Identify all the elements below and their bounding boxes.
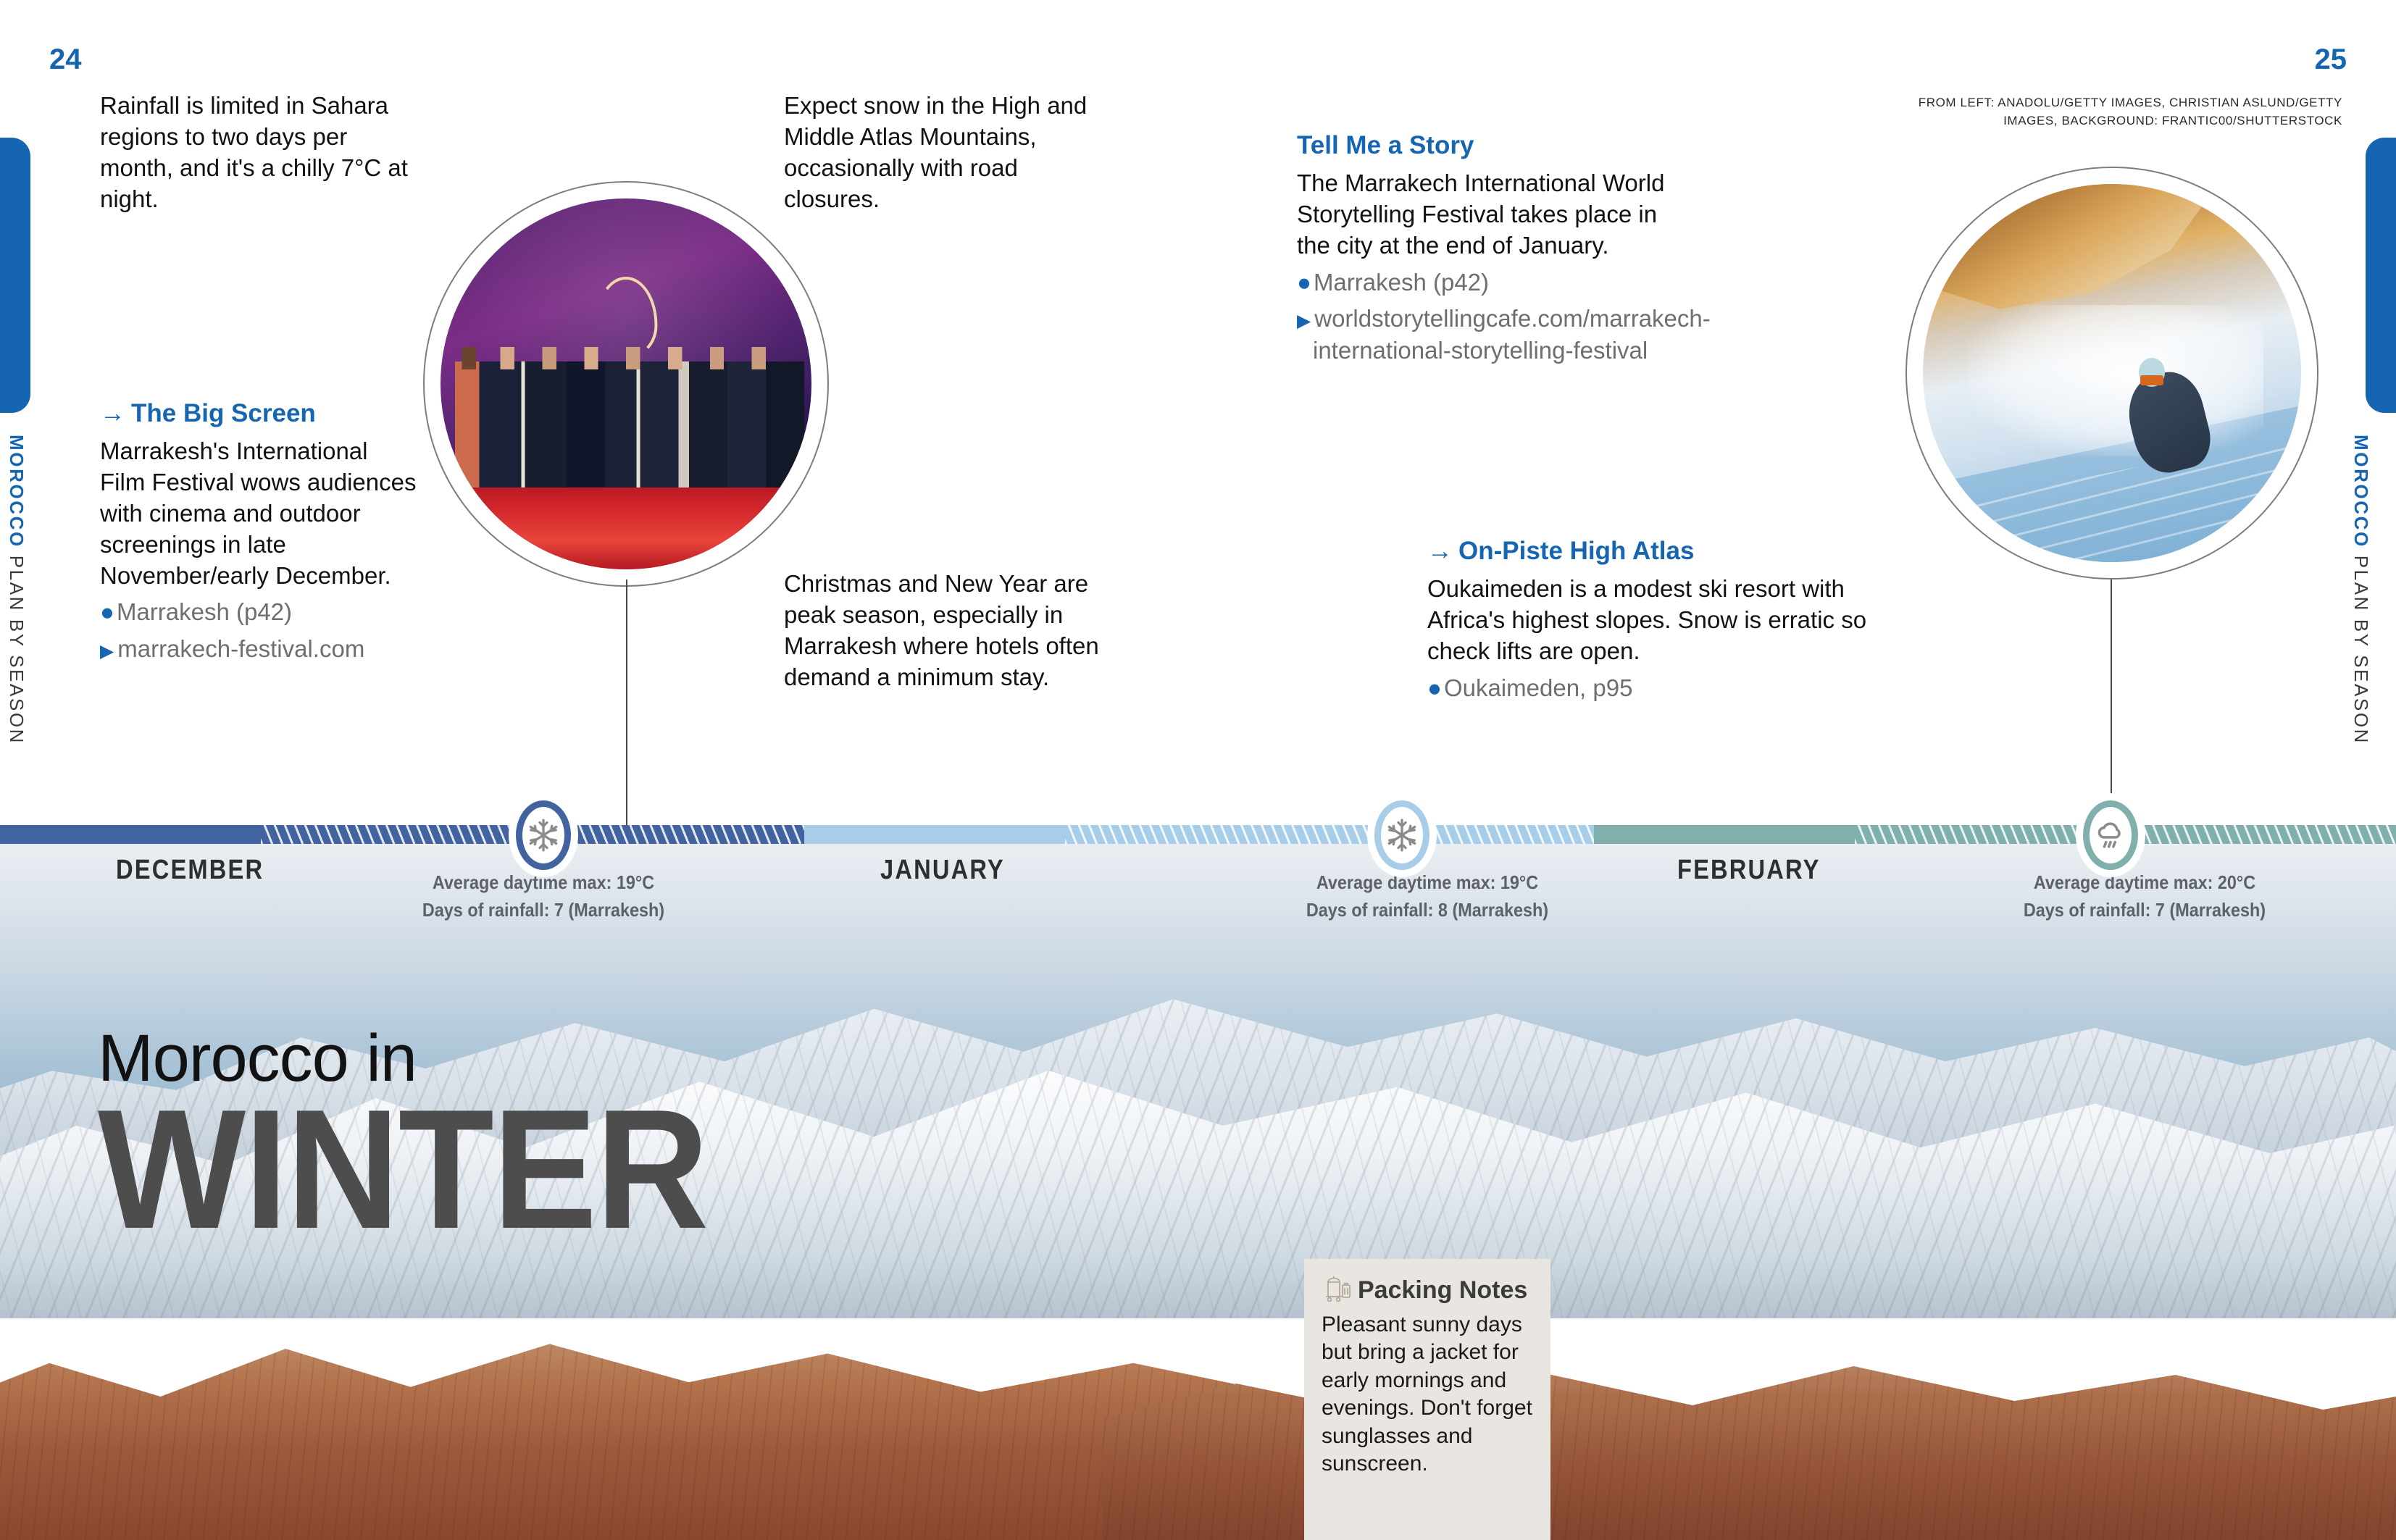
note-snow: Expect snow in the High and Middle Atlas… <box>784 91 1095 215</box>
stats-january: Average daytime max: 19°C Days of rainfa… <box>1258 869 1597 924</box>
page-number-right: 25 <box>2315 43 2347 76</box>
note-rainfall: Rainfall is limited in Sahara regions to… <box>100 91 417 215</box>
avg-max-december: Average daytime max: 19°C <box>374 869 713 897</box>
hatch-overlay <box>1065 825 1594 844</box>
feature-title-the-big-screen: →The Big Screen <box>100 398 419 429</box>
side-label-brand: MOROCCO <box>2350 435 2372 548</box>
feature-title-on-piste-high-atlas: →On-Piste High Atlas <box>1427 536 1927 566</box>
feature-body: The Marrakech International World Storyt… <box>1297 168 1688 261</box>
map-pin-icon: ● <box>1297 269 1311 296</box>
page-number-left: 24 <box>49 43 82 76</box>
feature-place: ●Marrakesh (p42) <box>1297 267 1688 298</box>
rainfall-january: Days of rainfall: 8 (Marrakesh) <box>1258 897 1597 924</box>
feature-place: ●Marrakesh (p42) <box>100 596 419 628</box>
snowflake-icon <box>1384 817 1420 853</box>
packing-notes-title: Packing Notes <box>1358 1276 1527 1305</box>
month-label-january: JANUARY <box>880 855 1005 886</box>
side-tab-left <box>0 138 30 413</box>
hero-title: Morocco in WINTER <box>98 1025 761 1242</box>
stats-february: Average daytime max: 20°C Days of rainfa… <box>1975 869 2314 924</box>
side-label-section: PLAN BY SEASON <box>2350 556 2372 745</box>
feature-body: Oukaimeden is a modest ski resort with A… <box>1427 574 1927 667</box>
arrow-icon: → <box>100 398 125 429</box>
marker-january[interactable] <box>1374 800 1429 870</box>
map-pin-icon: ● <box>1427 674 1442 701</box>
hero-title-large: WINTER <box>98 1096 708 1242</box>
timeline-segment-february <box>1594 825 2396 844</box>
film-festival-photo <box>423 181 829 587</box>
rain-cloud-icon <box>2092 817 2129 853</box>
feature-link-text: worldstorytellingcafe.com/marrakech-inte… <box>1313 305 1711 364</box>
note-peak-season: Christmas and New Year are peak season, … <box>784 569 1103 693</box>
feature-link-text: marrakech-festival.com <box>117 635 364 662</box>
timeline-segment-january <box>804 825 1594 844</box>
skier-photo <box>1905 167 2318 579</box>
luggage-cart-icon <box>1322 1275 1355 1305</box>
arrow-icon: → <box>1427 536 1453 566</box>
feature-title-text: The Big Screen <box>131 399 316 427</box>
rainfall-december: Days of rainfall: 7 (Marrakesh) <box>374 897 713 924</box>
side-label-right: MOROCCO PLAN BY SEASON <box>2350 435 2372 745</box>
stats-december: Average daytime max: 19°C Days of rainfa… <box>374 869 713 924</box>
season-timeline <box>0 825 2396 844</box>
connector-line-ski <box>2111 579 2112 833</box>
feature-place: ●Oukaimeden, p95 <box>1427 672 1927 704</box>
photo-ring <box>423 181 829 587</box>
side-label-brand: MOROCCO <box>6 435 28 548</box>
packing-notes-box: Packing Notes Pleasant sunny days but br… <box>1304 1259 1550 1540</box>
packing-notes-header: Packing Notes <box>1322 1275 1533 1305</box>
feature-link[interactable]: ▶worldstorytellingcafe.com/marrakech-int… <box>1297 303 1688 366</box>
marker-december[interactable] <box>516 800 571 870</box>
avg-max-january: Average daytime max: 19°C <box>1258 869 1597 897</box>
marker-february[interactable] <box>2083 800 2138 870</box>
feature-the-big-screen[interactable]: →The Big Screen Marrakesh's Internationa… <box>100 398 419 665</box>
connector-line-film <box>626 579 627 833</box>
timeline-segment-december <box>0 825 804 844</box>
feature-place-text: Marrakesh (p42) <box>117 598 292 625</box>
right-foothills <box>1102 1323 2396 1540</box>
feature-title-text: On-Piste High Atlas <box>1458 537 1694 565</box>
feature-place-text: Oukaimeden, p95 <box>1444 674 1633 701</box>
avg-max-february: Average daytime max: 20°C <box>1975 869 2314 897</box>
feature-title-tell-me-a-story: Tell Me a Story <box>1297 130 1688 161</box>
play-triangle-icon: ▶ <box>100 641 114 661</box>
month-label-december: DECEMBER <box>116 855 264 886</box>
photo-credits: FROM LEFT: ANADOLU/GETTY IMAGES, CHRISTI… <box>1879 94 2342 130</box>
packing-notes-body: Pleasant sunny days but bring a jacket f… <box>1322 1311 1533 1478</box>
feature-tell-me-a-story[interactable]: Tell Me a Story The Marrakech Internatio… <box>1297 130 1688 366</box>
side-label-section: PLAN BY SEASON <box>6 556 28 745</box>
feature-body: Marrakesh's International Film Festival … <box>100 436 419 591</box>
rainfall-february: Days of rainfall: 7 (Marrakesh) <box>1975 897 2314 924</box>
map-pin-icon: ● <box>100 598 114 625</box>
foothill-texture <box>1102 1323 2396 1540</box>
side-label-left: MOROCCO PLAN BY SEASON <box>5 435 28 745</box>
photo-ring <box>1905 167 2318 579</box>
editorial-area: FROM LEFT: ANADOLU/GETTY IMAGES, CHRISTI… <box>0 0 2396 833</box>
month-label-february: FEBRUARY <box>1677 855 1821 886</box>
side-tab-right <box>2366 138 2396 413</box>
feature-link[interactable]: ▶marrakech-festival.com <box>100 633 419 665</box>
play-triangle-icon: ▶ <box>1297 311 1311 331</box>
feature-place-text: Marrakesh (p42) <box>1314 269 1489 296</box>
magazine-spread: Morocco in WINTER DECEMBER JANUARY FEBRU… <box>0 0 2396 1540</box>
snowflake-icon <box>525 817 562 853</box>
feature-on-piste-high-atlas[interactable]: →On-Piste High Atlas Oukaimeden is a mod… <box>1427 536 1927 703</box>
